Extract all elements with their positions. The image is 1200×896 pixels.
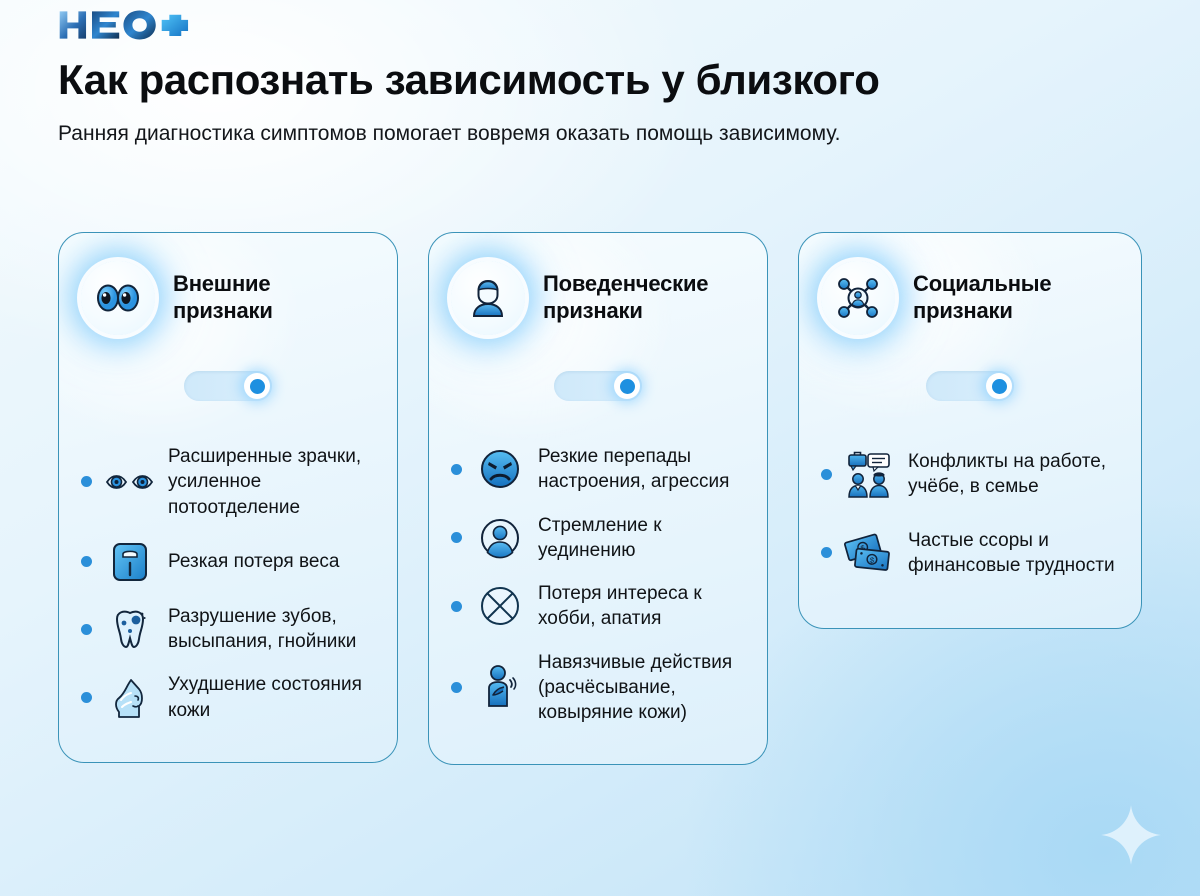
card-header: Поведенческие признаки [451, 259, 745, 337]
face-skin-icon [104, 674, 156, 722]
money-banknotes-icon: $ $ [844, 529, 896, 577]
list-item[interactable]: Резкая потеря веса [81, 529, 375, 595]
signs-list: Расширенные зрачки, усиленное потоотделе… [81, 435, 375, 732]
crossed-circle-icon [474, 582, 526, 630]
person-portrait-icon [451, 261, 525, 335]
signs-list: Конфликты на работе, учёбе, в семье $ [821, 435, 1119, 592]
card-header: Социальные признаки [821, 259, 1119, 337]
bullet-icon [821, 547, 832, 558]
list-item[interactable]: Конфликты на работе, учёбе, в семье [821, 435, 1119, 514]
list-item-label: Потеря интереса к хобби, апатия [538, 581, 745, 632]
bullet-icon [451, 532, 462, 543]
list-item-label: Навязчивые действия (расчёсывание, ковыр… [538, 650, 745, 726]
four-point-star-icon [1100, 804, 1162, 866]
bullet-icon [451, 682, 462, 693]
toggle-social-signs[interactable] [926, 371, 1014, 401]
bullet-icon [821, 469, 832, 480]
toggle-external-signs[interactable] [184, 371, 272, 401]
signs-cards-row: Внешние признаки Расширенные [58, 232, 1144, 765]
list-item[interactable]: Расширенные зрачки, усиленное потоотделе… [81, 435, 375, 529]
eyes-dilated-pupils-icon [104, 458, 156, 506]
toggle-row [451, 371, 745, 401]
list-item[interactable]: Навязчивые действия (расчёсывание, ковыр… [451, 641, 745, 735]
toggle-row [81, 371, 375, 401]
card-behavioral-signs: Поведенческие признаки Резкие перепады н… [428, 232, 768, 765]
card-social-signs: Социальные признаки [798, 232, 1142, 629]
toggle-behavioral-signs[interactable] [554, 371, 642, 401]
list-item[interactable]: Потеря интереса к хобби, апатия [451, 572, 745, 641]
tooth-decay-icon [104, 605, 156, 653]
page-header: Как распознать зависимость у близкого Ра… [58, 8, 1148, 149]
list-item[interactable]: $ $ Частые ссоры и финансовые трудности [821, 514, 1119, 593]
bullet-icon [81, 476, 92, 487]
bullet-icon [81, 692, 92, 703]
neo-plus-logo [58, 8, 228, 42]
list-item[interactable]: Резкие перепады настроения, агрессия [451, 435, 745, 504]
eyes-icon [81, 261, 155, 335]
card-title: Внешние признаки [173, 271, 375, 325]
angry-face-icon [474, 445, 526, 493]
list-item-label: Расширенные зрачки, усиленное потоотделе… [168, 444, 375, 520]
list-item[interactable]: Разрушение зубов, высыпания, гнойники [81, 595, 375, 664]
bullet-icon [81, 624, 92, 635]
toggle-row [821, 371, 1119, 401]
card-title: Социальные признаки [913, 271, 1119, 325]
list-item-label: Стремление к уединению [538, 513, 745, 564]
list-item[interactable]: Ухудшение состояния кожи [81, 663, 375, 732]
toggle-knob [614, 373, 640, 399]
page-subtitle: Ранняя диагностика симптомов помогает во… [58, 118, 958, 149]
weight-scale-icon [104, 538, 156, 586]
list-item-label: Ухудшение состояния кожи [168, 672, 375, 723]
card-title: Поведенческие признаки [543, 271, 745, 325]
bullet-icon [451, 601, 462, 612]
conflict-people-icon [844, 450, 896, 498]
bullet-icon [451, 464, 462, 475]
bullet-icon [81, 556, 92, 567]
card-header: Внешние признаки [81, 259, 375, 337]
list-item-label: Разрушение зубов, высыпания, гнойники [168, 604, 375, 655]
toggle-knob [986, 373, 1012, 399]
list-item-label: Частые ссоры и финансовые трудности [908, 528, 1119, 579]
list-item-label: Резкая потеря веса [168, 549, 340, 574]
signs-list: Резкие перепады настроения, агрессия Стр… [451, 435, 745, 734]
network-people-icon [821, 261, 895, 335]
list-item-label: Конфликты на работе, учёбе, в семье [908, 449, 1119, 500]
toggle-knob [244, 373, 270, 399]
person-circle-icon [474, 514, 526, 562]
person-scratching-icon [474, 663, 526, 711]
list-item-label: Резкие перепады настроения, агрессия [538, 444, 745, 495]
list-item[interactable]: Стремление к уединению [451, 504, 745, 573]
page-title: Как распознать зависимость у близкого [58, 56, 1148, 104]
card-external-signs: Внешние признаки Расширенные [58, 232, 398, 763]
